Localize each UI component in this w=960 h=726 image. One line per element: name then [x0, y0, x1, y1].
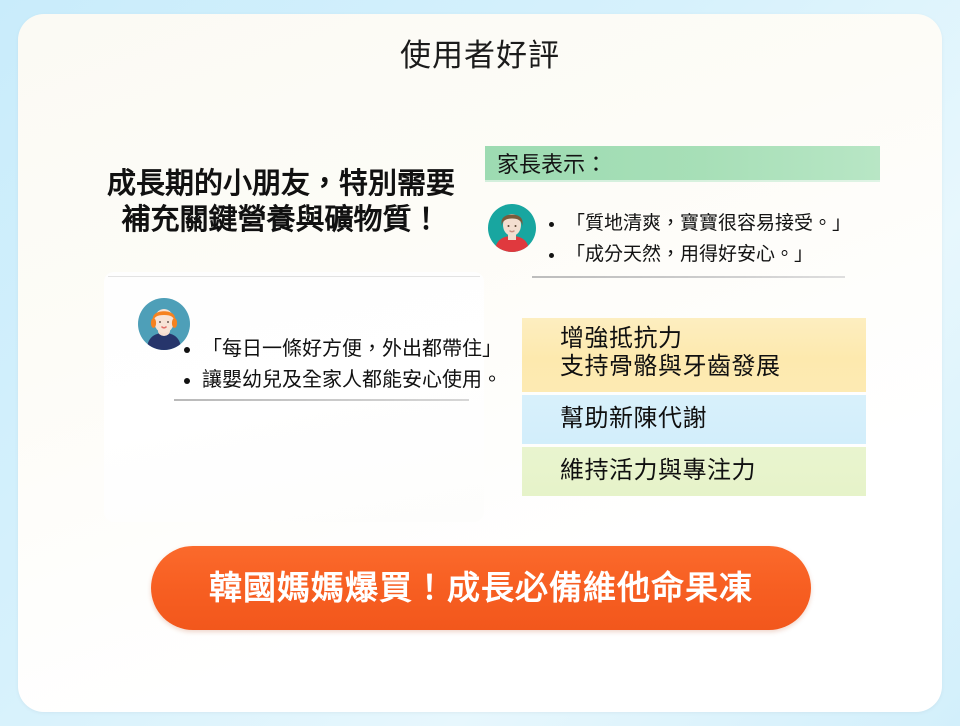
- page-background: 使用者好評 成長期的小朋友，特別需要 補充關鍵營養與礦物質！: [0, 0, 960, 726]
- right-bullet-list: 「質地清爽，寶寶很容易接受。」 「成分天然，用得好安心。」: [528, 208, 851, 270]
- benefit-band-text: 支持骨骼與牙齒發展: [560, 352, 781, 382]
- parents-header-bar: 家長表示：: [485, 146, 880, 182]
- right-divider: [532, 276, 845, 278]
- content-card: 使用者好評 成長期的小朋友，特別需要 補充關鍵營養與礦物質！: [18, 14, 942, 712]
- benefit-band-text: 增強抵抗力: [560, 324, 683, 354]
- benefit-band-metabolism: 幫助新陳代謝: [522, 395, 866, 444]
- cta-button-label: 韓國媽媽爆買！成長必備維他命果凍: [151, 546, 811, 630]
- parents-header-label: 家長表示：: [497, 150, 607, 179]
- list-item: 「質地清爽，寶寶很容易接受。」: [566, 208, 851, 239]
- benefit-band-immunity: 增強抵抗力 支持骨骼與牙齒發展: [522, 318, 866, 392]
- benefit-band-text: 維持活力與專注力: [560, 456, 756, 486]
- benefit-band-vitality: 維持活力與專注力: [522, 447, 866, 496]
- benefit-band-text: 幫助新陳代謝: [560, 404, 707, 434]
- cta-button[interactable]: 韓國媽媽爆買！成長必備維他命果凍: [151, 546, 811, 630]
- list-item: 「成分天然，用得好安心。」: [566, 239, 851, 270]
